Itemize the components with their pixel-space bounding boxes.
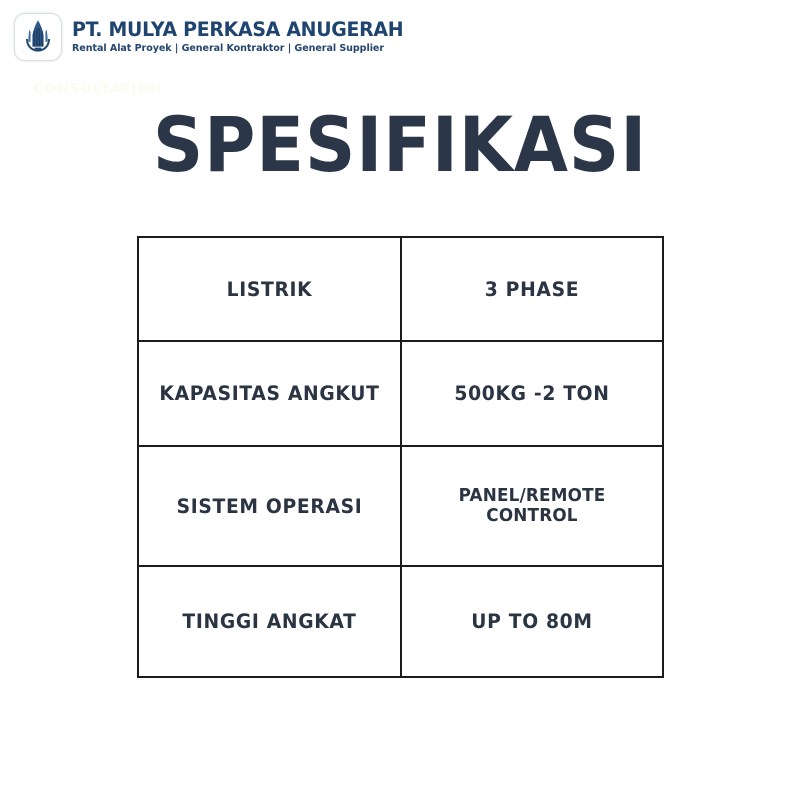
page-title: SPESIFIKASI [32, 104, 768, 186]
table-row: SISTEM OPERASI PANEL/REMOTE CONTROL [138, 446, 663, 566]
spec-label-cell: SISTEM OPERASI [143, 446, 395, 566]
brand-header: PT. MULYA PERKASA ANUGERAH Rental Alat P… [14, 13, 414, 61]
company-name: PT. MULYA PERKASA ANUGERAH [72, 20, 403, 40]
table-row: KAPASITAS ANGKUT 500KG -2 TON [138, 341, 663, 446]
consultation-watermark: CONSULTATION [33, 81, 163, 97]
specification-table: LISTRIK 3 PHASE KAPASITAS ANGKUT 500KG -… [137, 236, 664, 678]
spec-value-cell: UP TO 80M [406, 566, 658, 677]
company-tagline: Rental Alat Proyek | General Kontraktor … [72, 44, 408, 54]
spec-label-cell: TINGGI ANGKAT [143, 566, 395, 677]
spec-label-cell: LISTRIK [143, 237, 395, 341]
spec-value-cell: 3 PHASE [406, 237, 658, 341]
table-row: LISTRIK 3 PHASE [138, 237, 663, 341]
company-logo [14, 13, 62, 61]
brand-text-block: PT. MULYA PERKASA ANUGERAH Rental Alat P… [72, 20, 414, 53]
skyscraper-building-icon [21, 19, 55, 55]
table-row: TINGGI ANGKAT UP TO 80M [138, 566, 663, 677]
spec-value-cell: 500KG -2 TON [406, 341, 658, 446]
spec-value-cell: PANEL/REMOTE CONTROL [406, 446, 658, 566]
spec-label-cell: KAPASITAS ANGKUT [143, 341, 395, 446]
